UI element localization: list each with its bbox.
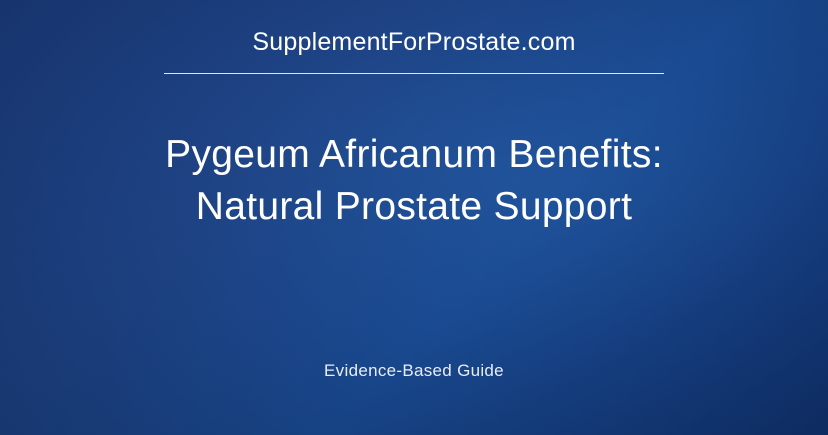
site-name: SupplementForProstate.com [252, 27, 575, 57]
subtitle: Evidence-Based Guide [0, 361, 828, 381]
page-title-line-2: Natural Prostate Support [34, 181, 794, 233]
header-divider [164, 73, 664, 74]
title-slide: SupplementForProstate.com Pygeum African… [0, 0, 828, 435]
slide-content: SupplementForProstate.com Pygeum African… [0, 0, 828, 435]
page-title: Pygeum Africanum Benefits: Natural Prost… [34, 129, 794, 233]
page-title-line-1: Pygeum Africanum Benefits: [34, 129, 794, 181]
